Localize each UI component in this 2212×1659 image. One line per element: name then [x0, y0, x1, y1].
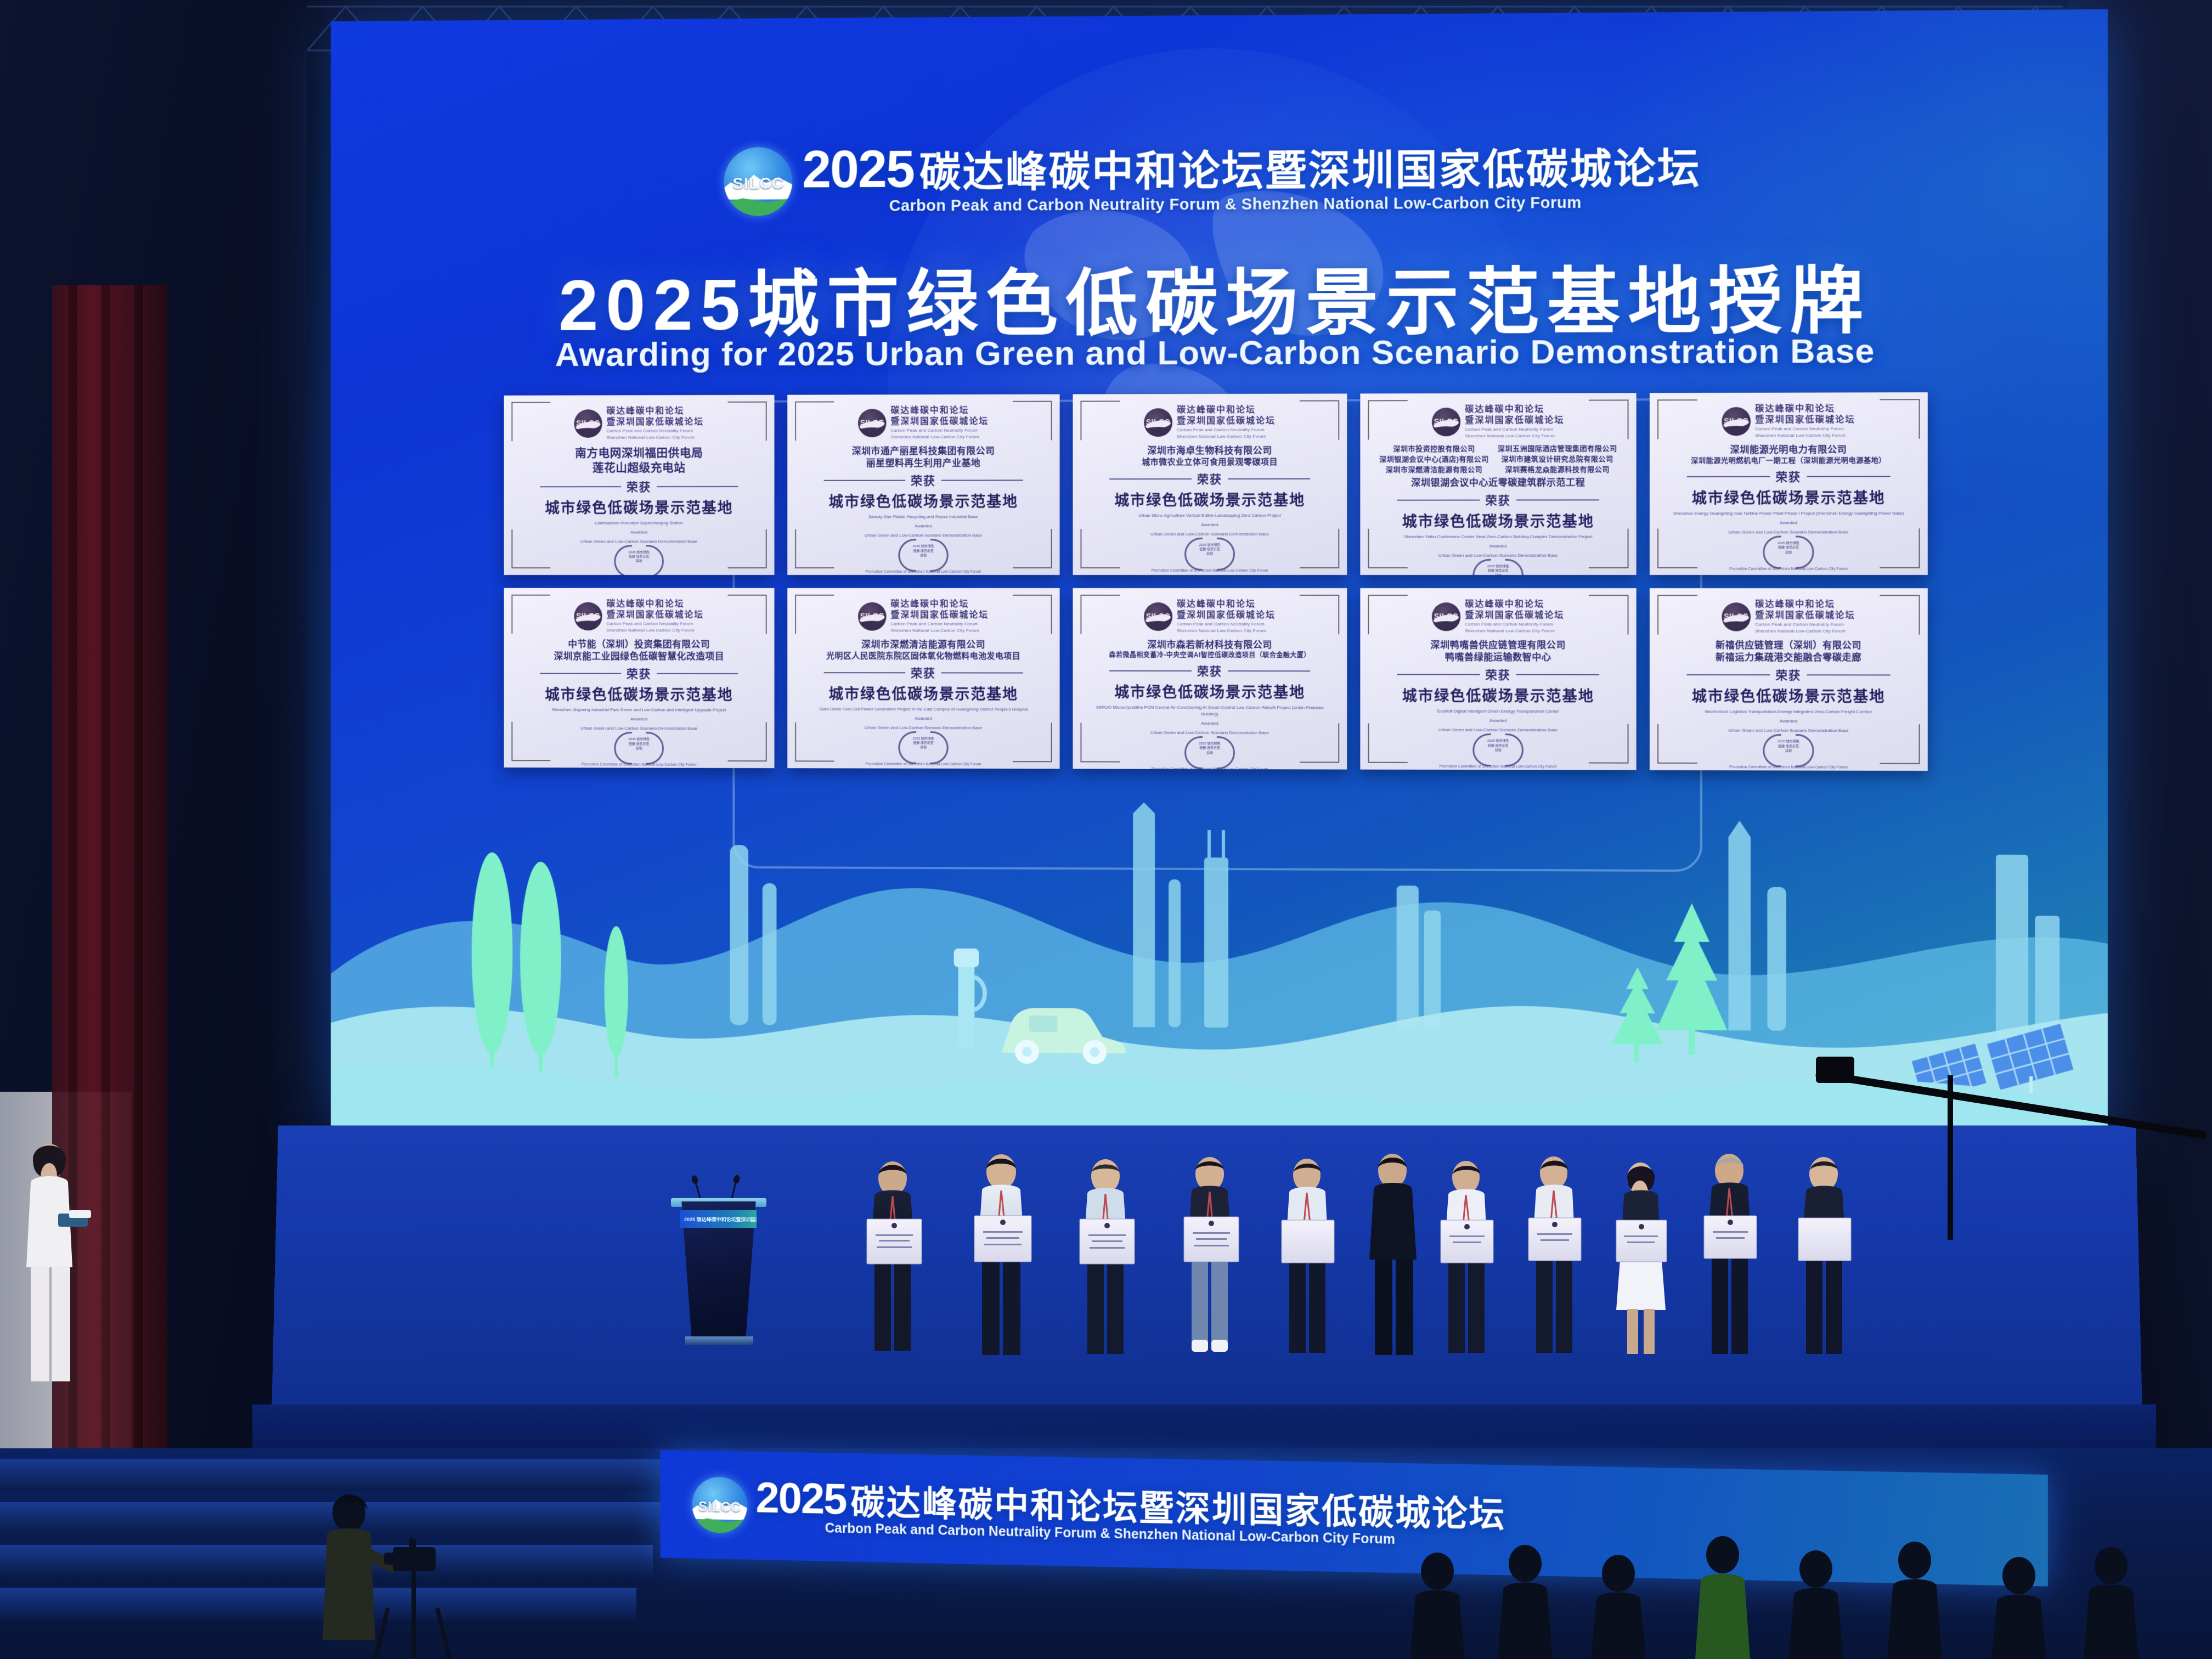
silcc-plaque-logo-text: SILCC [858, 418, 887, 427]
plaque-card: SILCC 碳达峰碳中和论坛 暨深圳国家低碳城论坛 Carbon Peak an… [1360, 393, 1636, 575]
plaque-header-en-1: Carbon Peak and Carbon Neutrality Forum [1755, 622, 1855, 628]
plaque-card: SILCC 碳达峰碳中和论坛 暨深圳国家低碳城论坛 Carbon Peak an… [787, 394, 1059, 575]
screen-header-lockup: SILCC 2025 碳达峰碳中和论坛暨深圳国家低碳城论坛 Carbon Pea… [331, 138, 2108, 218]
plaque-header-en-2: Shenzhen National Low-Carbon City Forum [1177, 628, 1276, 634]
plaque-header-cn-1: 碳达峰碳中和论坛 [1465, 404, 1564, 415]
screen-header-title-en: Carbon Peak and Carbon Neutrality Forum … [889, 194, 1582, 216]
silcc-plaque-logo-icon: SILCC [1432, 602, 1460, 631]
plaque-project-name: 深圳京能工业园绿色低碳智慧化改造项目 [554, 651, 725, 663]
plaque-header-cn-1: 碳达峰碳中和论坛 [890, 599, 989, 610]
plaque-org-name: 新禧供应链管理（深圳）有限公司 [1716, 640, 1861, 652]
plaque-header-en-1: Carbon Peak and Carbon Neutrality Forum [890, 428, 989, 433]
plaque-seal: 2025 城市绿色低碳 场景示范基地 Promotion Committee o… [865, 539, 981, 574]
plaque-honor-en: Urban Green and Low-Carbon Scenario Demo… [1728, 529, 1848, 535]
plaque-header-en-2: Shenzhen National Low-Carbon City Forum [890, 628, 989, 634]
plaque-header-en-1: Carbon Peak and Carbon Neutrality Forum [1755, 426, 1855, 432]
plaque-org-name: 深圳市通产丽星科技集团有限公司 [852, 445, 995, 458]
banner-year: 2025 [756, 1477, 847, 1520]
plaque-award-word: 荣获 [1776, 667, 1802, 683]
crane-camera-head-icon [1816, 1057, 1854, 1083]
silcc-plaque-logo-text: SILCC [1722, 612, 1751, 621]
plaque-project-en: SERUO Microcrystalline PCM Central Air-C… [1089, 704, 1330, 718]
plaque-seal-text: 2025 城市绿色低碳 场景示范基地 [1778, 541, 1800, 555]
laurel-wreath-icon: 2025 城市绿色低碳 场景示范基地 [1763, 535, 1814, 565]
plaque-header-en-2: Shenzhen National Low-Carbon City Forum [1465, 433, 1564, 439]
plaque-org-name: 深圳银湖会议中心(酒店)有限公司 [1379, 455, 1489, 464]
laurel-wreath-icon: 2025 城市绿色低碳 场景示范基地 [898, 539, 948, 568]
plaque-seal: 2025 城市绿色低碳 场景示范基地 Promotion Committee o… [1440, 559, 1557, 575]
plaque-award-word: 荣获 [911, 472, 936, 489]
plaque-header-cn-2: 暨深圳国家低碳城论坛 [890, 610, 989, 620]
silcc-plaque-logo-text: SILCC [574, 419, 602, 427]
podium-strip-text: 2025 碳达峰碳中和论坛暨深圳国家低碳城论坛 [684, 1216, 757, 1223]
plaque-header-en-1: Carbon Peak and Carbon Neutrality Forum [1177, 622, 1276, 627]
plaque-project-name: 新禧运力集疏港交能融合零碳走廊 [1716, 652, 1861, 664]
silcc-plaque-logo-icon: SILCC [1432, 408, 1460, 436]
silcc-plaque-logo-icon: SILCC [1722, 407, 1751, 436]
plaque-card: SILCC 碳达峰碳中和论坛 暨深圳国家低碳城论坛 Carbon Peak an… [504, 395, 775, 575]
plaque-honor-cn: 城市绿色低碳场景示范基地 [545, 495, 733, 517]
plaque-org-name: 深圳市深燃清洁能源有限公司 [1379, 465, 1489, 475]
plaque-header-cn-2: 暨深圳国家低碳城论坛 [1177, 415, 1276, 426]
plaque-org-name: 深圳市森若新材科技有限公司 [1147, 639, 1272, 651]
plaque-header-en-1: Carbon Peak and Carbon Neutrality Forum [1465, 622, 1564, 627]
plaque-project-name: 城市微农业立体可食用景观零碳项目 [1142, 457, 1278, 468]
plaque-header-cn-2: 暨深圳国家低碳城论坛 [1755, 414, 1855, 425]
plaque-award-word: 荣获 [1485, 492, 1510, 508]
plaque-org-name: 深圳能源光明电力有限公司 [1730, 444, 1847, 456]
plaque-header-cn-1: 碳达峰碳中和论坛 [1755, 599, 1855, 610]
plaque-award-word: 荣获 [1485, 667, 1510, 683]
plaque-header-en-1: Carbon Peak and Carbon Neutrality Forum [607, 621, 704, 627]
plaque-header-cn-2: 暨深圳国家低碳城论坛 [890, 416, 989, 427]
plaque-org-name: 深圳市海卓生物科技有限公司 [1147, 445, 1272, 457]
plaque-header-en-2: Shenzhen National Low-Carbon City Forum [607, 435, 704, 441]
plaque-header-cn-1: 碳达峰碳中和论坛 [1177, 599, 1276, 610]
plaque-org-name: 深圳五洲国际酒店管理集团有限公司 [1498, 444, 1617, 454]
plaque-header-en-2: Shenzhen National Low-Carbon City Forum [1755, 629, 1855, 634]
silcc-plaque-logo-icon: SILCC [1144, 408, 1172, 437]
plaque-honor-cn: 城市绿色低碳场景示范基地 [1114, 488, 1305, 509]
plaque-header-cn-2: 暨深圳国家低碳城论坛 [1465, 415, 1564, 426]
silcc-plaque-logo-icon: SILCC [574, 602, 602, 630]
plaque-header-en-2: Shenzhen National Low-Carbon City Forum [1177, 434, 1276, 439]
plaque-project-name: 鸭嘴兽绿能运输数智中心 [1445, 652, 1551, 664]
screen-headline-en: Awarding for 2025 Urban Green and Low-Ca… [331, 331, 2108, 375]
plaque-award-word: 荣获 [911, 664, 936, 681]
plaque-header-cn-1: 碳达峰碳中和论坛 [890, 405, 989, 416]
plaque-header-cn-1: 碳达峰碳中和论坛 [607, 599, 704, 610]
silcc-plaque-logo-icon: SILCC [858, 602, 887, 630]
silcc-plaque-logo-icon: SILCC [574, 409, 602, 438]
plaque-honor-cn: 城市绿色低碳场景示范基地 [1402, 684, 1594, 706]
plaque-project-en: Newhorizon Logistics Transportation-Ener… [1705, 709, 1872, 716]
screen-header-year: 2025 [802, 144, 914, 195]
plaque-header-cn-2: 暨深圳国家低碳城论坛 [1465, 610, 1564, 621]
plaque-header-cn-1: 碳达峰碳中和论坛 [607, 406, 704, 417]
plaque-honor-cn: 城市绿色低碳场景示范基地 [1114, 680, 1305, 702]
plaque-award-word: 荣获 [627, 478, 651, 495]
plaque-header-en-2: Shenzhen National Low-Carbon City Forum [890, 435, 989, 440]
laurel-wreath-icon: 2025 城市绿色低碳 场景示范基地 [1184, 538, 1235, 567]
screen-header-title-cn: 碳达峰碳中和论坛暨深圳国家低碳城论坛 [919, 148, 1701, 194]
plaque-awarded-en: Awarded [915, 523, 932, 530]
plaque-header-en-1: Carbon Peak and Carbon Neutrality Forum [1177, 427, 1276, 433]
silcc-plaque-logo-icon: SILCC [858, 409, 887, 437]
silcc-logo-icon: SILCC [692, 1476, 747, 1533]
plaque-org-name: 深圳市投资控股有限公司 [1379, 444, 1489, 454]
plaque-project-name: 光明区人民医院东院区固体氧化物燃料电池发电项目 [826, 651, 1020, 662]
plaque-award-word: 荣获 [1197, 663, 1222, 679]
plaque-org-name: 深圳市深燃清洁能源有限公司 [861, 639, 985, 651]
front-row-crew-icon [1404, 1525, 2151, 1659]
plaque-award-word: 荣获 [627, 665, 651, 682]
laurel-wreath-icon: 2025 城市绿色低碳 场景示范基地 [1472, 559, 1523, 575]
plaque-header-en-1: Carbon Peak and Carbon Neutrality Forum [1465, 427, 1564, 432]
plaque-honor-en: Urban Green and Low-Carbon Scenario Demo… [1150, 531, 1269, 538]
plaque-header-cn-2: 暨深圳国家低碳城论坛 [1755, 610, 1855, 621]
plaque-header-cn-2: 暨深圳国家低碳城论坛 [607, 610, 704, 620]
plaque-card: SILCC 碳达峰碳中和论坛 暨深圳国家低碳城论坛 Carbon Peak an… [1073, 393, 1347, 575]
silcc-plaque-logo-icon: SILCC [1722, 602, 1751, 631]
camera-operator-tripod-icon [285, 1481, 483, 1659]
plaque-header-cn-1: 碳达峰碳中和论坛 [1465, 599, 1564, 610]
plaque-project-en: Lianhuashan Mountain Supercharging Stati… [595, 520, 683, 526]
plaque-awarded-en: Awarded [1780, 520, 1797, 526]
plaque-org-name: 中节能（深圳）投资集团有限公司 [568, 639, 710, 651]
silcc-logo-text: SILCC [724, 174, 793, 193]
plaque-honor-cn: 城市绿色低碳场景示范基地 [828, 682, 1018, 703]
plaque-project-en: Duckbill Digital Intelligent Green Energ… [1437, 708, 1559, 715]
silcc-plaque-logo-text: SILCC [858, 612, 887, 620]
recipients-silhouettes-icon [856, 1147, 1931, 1410]
camera-crane [1816, 1004, 2212, 1190]
plaque-header-en-2: Shenzhen National Low-Carbon City Forum [1465, 628, 1564, 634]
usher-silhouette-icon [11, 1130, 110, 1404]
plaque-project-name: 莲花山超级充电站 [592, 461, 686, 476]
plaque-honor-cn: 城市绿色低碳场景示范基地 [1692, 684, 1886, 706]
speaker-podium: 2025 碳达峰碳中和论坛暨深圳国家低碳城论坛 [667, 1180, 771, 1344]
plaque-honor-cn: 城市绿色低碳场景示范基地 [1402, 509, 1594, 531]
plaque-footer-en: Promotion Committee of Shenzhen National… [865, 570, 981, 574]
plaque-header-cn-1: 碳达峰碳中和论坛 [1177, 405, 1276, 416]
plaque-project-en: Shenzhen Yinhu Conference Center Near-Ze… [1404, 533, 1593, 540]
plaque-project-en: Solid Oxide Fuel Cell Power Generation P… [819, 706, 1028, 713]
plaque-header-en-1: Carbon Peak and Carbon Neutrality Forum [607, 428, 704, 434]
podium-branding-strip: 2025 碳达峰碳中和论坛暨深圳国家低碳城论坛 [680, 1210, 757, 1228]
silcc-logo-text: SILCC [692, 1499, 747, 1515]
plaque-org-name: 南方电网深圳福田供电局 [575, 446, 703, 461]
plaque-project-en: Shenzhen Energy Guangming Gas Turbine Po… [1673, 510, 1904, 517]
silcc-plaque-logo-text: SILCC [574, 612, 602, 620]
plaque-org-columns: 深圳市投资控股有限公司 深圳银湖会议中心(酒店)有限公司 深圳市深燃清洁能源有限… [1379, 444, 1617, 475]
plaque-header-en-2: Shenzhen National Low-Carbon City Forum [607, 628, 704, 633]
plaque-project-en: Shenzhen Jingneng Industrial Park Green … [552, 707, 726, 713]
plaque-header-cn-1: 碳达峰碳中和论坛 [1755, 404, 1855, 415]
plaque-project-name: 深圳能源光明燃机电厂一期工程（深圳能源光明电源基地） [1691, 456, 1886, 466]
silcc-plaque-logo-text: SILCC [1432, 612, 1460, 620]
plaque-honor-en: Urban Green and Low-Carbon Scenario Demo… [580, 538, 697, 545]
plaque-card: SILCC 碳达峰碳中和论坛 暨深圳国家低碳城论坛 Carbon Peak an… [1650, 392, 1928, 575]
plaque-award-word: 荣获 [1197, 471, 1222, 487]
silcc-plaque-logo-icon: SILCC [1144, 602, 1172, 630]
plaque-awarded-en: Awarded [630, 529, 647, 535]
silcc-logo-icon: SILCC [724, 147, 793, 216]
plaque-org-name: 深圳市建筑设计研究总院有限公司 [1498, 455, 1617, 464]
screenshot-root: SILCC 2025 碳达峰碳中和论坛暨深圳国家低碳城论坛 Carbon Pea… [0, 0, 2212, 1659]
plaque-footer-en: Promotion Committee of Shenzhen National… [1152, 569, 1268, 573]
laurel-wreath-icon: 2025 城市绿色低碳 场景示范基地 [614, 545, 664, 574]
plaque-project-name: 森若微晶相变蓄冷-中央空调AI智控低碳改造项目（联合金融大厦） [1109, 651, 1311, 660]
silcc-plaque-logo-text: SILCC [1432, 417, 1460, 426]
plaque-seal: 2025 城市绿色低碳 场景示范基地 Promotion Committee o… [1152, 538, 1268, 573]
plaque-org-name: 深圳鸭嘴兽供应链管理有限公司 [1430, 639, 1566, 651]
plaque-awarded-en: Awarded [1489, 543, 1507, 550]
plaque-honor-cn: 城市绿色低碳场景示范基地 [545, 683, 733, 704]
plaque-seal: 2025 城市绿色低碳 场景示范基地 Promotion Committee o… [1729, 535, 1848, 571]
plaque-header-en-2: Shenzhen National Low-Carbon City Forum [1755, 433, 1855, 438]
plaque-seal-text: 2025 城市绿色低碳 场景示范基地 [1199, 543, 1221, 557]
plaque-honor-cn: 城市绿色低碳场景示范基地 [828, 490, 1018, 511]
plaque-honor-cn: 城市绿色低碳场景示范基地 [1692, 486, 1886, 508]
plaque-seal: 2025 城市绿色低碳 场景示范基地 Promotion Committee o… [582, 545, 697, 575]
plaque-header-cn-2: 暨深圳国家低碳城论坛 [1177, 610, 1276, 620]
plaque-project-name: 深圳银湖会议中心近零碳建筑群示范工程 [1411, 477, 1585, 489]
plaque-project-en: Beauty Star Plastic Recycling and Reuse … [869, 514, 978, 521]
plaque-seal-text: 2025 城市绿色低碳 场景示范基地 [628, 550, 650, 564]
plaque-header-en-1: Carbon Peak and Carbon Neutrality Forum [890, 622, 989, 627]
plaque-project-en: Urban Micro-Agriculture Vertical Edible … [1138, 512, 1281, 519]
plaque-org-name: 深圳赛格龙焱能源科技有限公司 [1498, 465, 1617, 475]
plaque-honor-en: Urban Green and Low-Carbon Scenario Demo… [1438, 552, 1558, 559]
plaque-project-name: 丽星塑料再生利用产业基地 [866, 458, 980, 470]
plaque-seal-text: 2025 城市绿色低碳 场景示范基地 [912, 544, 934, 558]
main-led-screen: SILCC 2025 碳达峰碳中和论坛暨深圳国家低碳城论坛 Carbon Pea… [331, 9, 2108, 1143]
plaque-header-cn-2: 暨深圳国家低碳城论坛 [607, 416, 704, 427]
plaque-award-word: 荣获 [1776, 469, 1802, 485]
plaque-honor-en: Urban Green and Low-Carbon Scenario Demo… [865, 532, 983, 539]
silcc-plaque-logo-text: SILCC [1144, 417, 1172, 426]
plaque-seal-text: 2025 城市绿色低碳 场景示范基地 [1487, 565, 1509, 575]
plaque-row-1: SILCC 碳达峰碳中和论坛 暨深圳国家低碳城论坛 Carbon Peak an… [331, 392, 2108, 575]
silcc-plaque-logo-text: SILCC [1144, 612, 1172, 620]
plaque-awarded-en: Awarded [1201, 522, 1218, 528]
plaque-footer-en: Promotion Committee of Shenzhen National… [1729, 567, 1848, 571]
silcc-plaque-logo-text: SILCC [1722, 416, 1751, 425]
